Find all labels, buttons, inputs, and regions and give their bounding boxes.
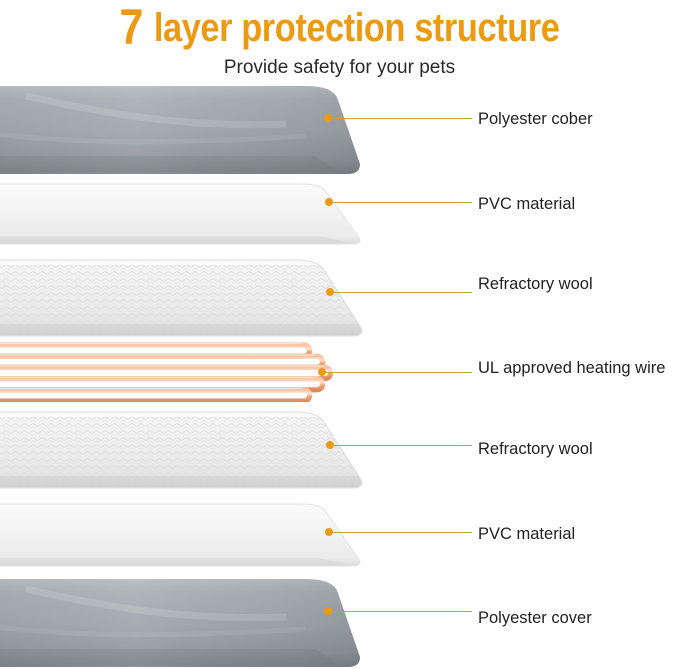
pvc-top-slab: [0, 180, 366, 250]
label-polyester-cover-bottom: Polyester cover: [478, 608, 592, 628]
layer-refractory-wool-bottom: [0, 408, 366, 498]
label-refractory-wool-top: Refractory wool: [478, 274, 593, 294]
label-polyester-cober-top: Polyester cober: [478, 109, 593, 129]
layer-ul-approved-heating-wire: [0, 340, 346, 402]
layer-polyester-cover-bottom: [0, 577, 360, 669]
title-number: 7: [120, 0, 143, 55]
heating-wire-bundle: [0, 340, 346, 402]
label-refractory-wool-bottom: Refractory wool: [478, 439, 593, 459]
label-pvc-material-top: PVC material: [478, 194, 575, 214]
title-text: layer protection structure: [145, 6, 560, 50]
polyester-top-slab: [0, 84, 360, 176]
label-pvc-material-bottom: PVC material: [478, 524, 575, 544]
label-ul-approved-heating-wire: UL approved heating wire: [478, 358, 665, 378]
page-title: 7 layer protection structure: [48, 0, 632, 51]
header: 7 layer protection structure Provide saf…: [0, 0, 679, 79]
page-subtitle: Provide safety for your pets: [0, 51, 679, 79]
layer-pvc-material-top: [0, 180, 366, 250]
wool-bottom-slab: [0, 408, 366, 498]
layer-refractory-wool-top: [0, 256, 366, 346]
layer-pvc-material-bottom: [0, 500, 366, 572]
polyester-bottom-slab: [0, 577, 360, 669]
wool-top-slab: [0, 256, 366, 346]
pvc-bottom-slab: [0, 500, 366, 572]
layer-polyester-cober-top: [0, 84, 360, 176]
infographic-canvas: 7 layer protection structure Provide saf…: [0, 0, 679, 669]
